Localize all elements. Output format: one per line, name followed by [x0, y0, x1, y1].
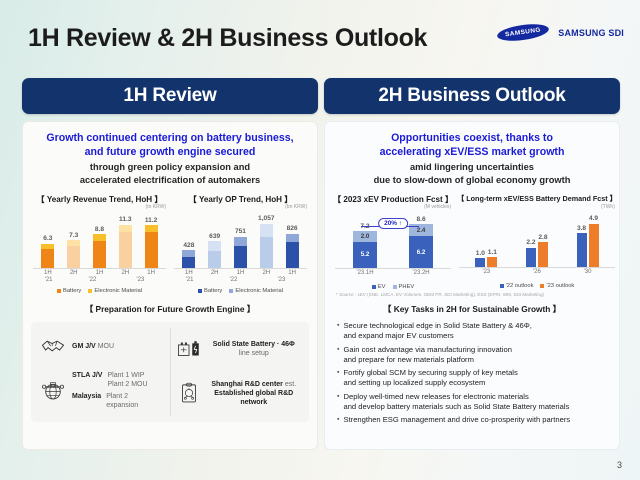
legend-xev: EVPHEV — [333, 284, 453, 290]
xticks-revenue: 1H2H1H2H1H — [31, 269, 168, 276]
key-task-item: ▪Secure technological edge in Solid Stat… — [337, 321, 607, 341]
legend-label: '23 outlook — [546, 283, 574, 289]
left-panel: 1H Review Growth continued centering on … — [22, 78, 318, 450]
bar — [93, 234, 106, 268]
bar — [41, 244, 54, 268]
key-task-text: Secure technological edge in Solid State… — [343, 321, 531, 341]
right-panel-header: 2H Business Outlook — [324, 78, 620, 114]
bar-segment-top — [182, 250, 195, 257]
bar-segment-bottom — [208, 251, 221, 268]
engine-rnd-bold2: Established global R&D network — [208, 389, 301, 407]
right-panel-title: 2H Business Outlook — [378, 85, 565, 107]
bar-group: 7.22.05.2 — [352, 224, 378, 268]
engine-row-stla: STLA J/V Plant 1 WIP Plant 2 MOU — [72, 371, 148, 389]
bar-value-label: 2.8 — [538, 235, 547, 242]
growth-callout: 20% ↑ — [378, 218, 408, 229]
right-panel: 2H Business Outlook Opportunities coexis… — [324, 78, 620, 450]
bar-column: 3.8 — [577, 226, 587, 267]
key-task-text: Fortify global SCM by securing supply of… — [343, 368, 517, 388]
year-tick-label: '21 — [45, 277, 53, 283]
legend-revenue: BatteryElectronic Material — [31, 288, 168, 294]
bar — [119, 225, 132, 268]
legend-swatch — [57, 289, 61, 293]
bar-value-label: 4.9 — [589, 216, 598, 223]
legend-swatch — [500, 284, 504, 288]
clipboard-rnd-icon — [176, 381, 202, 405]
engine-text-ssb: Solid State Battery · 46Φ line setup — [208, 340, 301, 358]
bar-value-label: 3.8 — [577, 226, 586, 233]
globe-network-icon — [40, 378, 66, 402]
bar — [67, 240, 80, 268]
bar — [286, 234, 299, 269]
bar — [526, 248, 536, 268]
legend-item: Battery — [198, 288, 222, 294]
engine-rnd-normal1: est. — [285, 381, 296, 388]
legend-item: Battery — [57, 288, 81, 294]
bar — [145, 225, 158, 268]
legend-label: Electronic Material — [94, 288, 142, 294]
right-charts-row: 【 2023 xEV Production Fcst 】 (M vehicles… — [333, 194, 611, 290]
bullet-icon: ▪ — [337, 321, 339, 341]
engine-ssb-normal: line setup — [208, 349, 301, 358]
bar-value-label: 6.3 — [43, 236, 52, 243]
legend-item: '23 outlook — [540, 283, 574, 289]
bar-column: 2.8 — [538, 235, 548, 267]
left-charts-row: 【 Yearly Revenue Trend, HoH 】 (tn KRW) 6… — [31, 194, 309, 294]
bar-group: 2.22.8 — [526, 235, 548, 267]
legend-label: Electronic Material — [235, 288, 283, 294]
bar-column: 2.2 — [526, 240, 536, 267]
year-tick-label: '22 — [230, 277, 238, 283]
bar — [260, 224, 273, 268]
right-sub-line1: amid lingering uncertainties — [333, 161, 611, 173]
bar-segment-bottom — [67, 246, 80, 269]
left-panel-header: 1H Review — [22, 78, 318, 114]
year-tick-label: '23 — [277, 277, 285, 283]
legend-swatch — [198, 289, 202, 293]
bar-segment-bottom — [234, 246, 247, 268]
legend-label: Battery — [63, 288, 81, 294]
year-tick-label: '22 — [89, 277, 97, 283]
engine-gm-bold: GM J/V — [72, 343, 96, 350]
page-title: 1H Review & 2H Business Outlook — [28, 24, 427, 53]
engine-item-gm-jv: GM J/V MOU — [35, 334, 170, 358]
key-task-item: ▪Fortify global SCM by securing supply o… — [337, 368, 607, 388]
chart-yearly-op: 【 Yearly OP Trend, HoH 】 (bn KRW) 428639… — [172, 194, 309, 294]
bar — [538, 242, 548, 267]
bar-segment-top — [119, 225, 132, 232]
plot-xev: 7.22.05.28.62.46.2 20% ↑ — [333, 206, 453, 268]
legend-swatch — [229, 289, 233, 293]
yearticks-revenue: '21'22'23 — [31, 276, 168, 287]
bar-segment-top — [208, 241, 221, 251]
bar-column: 4.9 — [589, 216, 599, 267]
bar-value-label: 11.2 — [145, 218, 157, 225]
bar-value-label: 826 — [287, 226, 298, 233]
engine-malaysia-details: Plant 2 expansion — [106, 392, 138, 410]
x-tick-label: '26 — [525, 269, 549, 275]
engine-malaysia-bold: Malaysia — [72, 392, 101, 410]
engine-gm-normal: MOU — [98, 343, 114, 350]
left-lead-line1: Growth continued centering on battery bu… — [31, 131, 309, 145]
bar-segment-top — [145, 225, 158, 232]
bar-segment-bottom — [145, 232, 158, 268]
key-task-item: ▪Gain cost advantage via manufacturing i… — [337, 345, 607, 365]
right-sub-line2: due to slow-down of global economy growt… — [333, 174, 611, 186]
legend-swatch — [393, 285, 397, 289]
chart-yearly-revenue: 【 Yearly Revenue Trend, HoH 】 (tn KRW) 6… — [31, 194, 168, 294]
bullet-icon: ▪ — [337, 392, 339, 412]
left-panel-body: Growth continued centering on battery bu… — [22, 121, 318, 450]
engine-item-stla-malaysia: STLA J/V Plant 1 WIP Plant 2 MOU Malaysi… — [35, 371, 170, 410]
chart-longterm-demand: 【 Long-term xEV/ESS Battery Demand Fcst … — [457, 194, 617, 290]
bar-segment-top — [260, 224, 273, 237]
engine-text-rnd: Shanghai R&D center est. Established glo… — [208, 380, 301, 407]
legend-op: BatteryElectronic Material — [172, 288, 309, 294]
bar-segment-top — [286, 234, 299, 242]
engine-text-gm: GM J/V MOU — [72, 342, 114, 351]
growth-engine-section-title: 【 Preparation for Future Growth Engine 】 — [31, 303, 309, 315]
bar-group: 7.3 — [66, 233, 81, 269]
key-task-text: Deploy well-timed new releases for elect… — [343, 392, 569, 412]
chart-xev-production: 【 2023 xEV Production Fcst 】 (M vehicles… — [333, 194, 453, 290]
handshake-icon — [40, 334, 66, 358]
engine-row-malaysia: Malaysia Plant 2 expansion — [72, 392, 148, 410]
bar — [487, 257, 497, 267]
engine-stla-detail2: Plant 2 MOU — [107, 380, 147, 389]
engine-malaysia-detail1: Plant 2 — [106, 392, 138, 401]
engine-rnd-line1: Shanghai R&D center est. — [208, 380, 301, 389]
engine-col-right: Solid State Battery · 46Φ line setup — [170, 328, 306, 416]
samsung-ellipse-icon: SAMSUNG — [496, 21, 550, 43]
legend-label: EV — [378, 284, 386, 290]
bar — [234, 237, 247, 268]
bar-segment-bottom — [182, 257, 195, 268]
bar-column: 1.1 — [487, 250, 497, 267]
legend-swatch — [372, 285, 376, 289]
x-tick-label: '23.2H — [408, 270, 434, 276]
bar-value-label: 1.0 — [476, 251, 485, 258]
right-sub-text: amid lingering uncertainties due to slow… — [333, 161, 611, 186]
legend-item: PHEV — [393, 284, 415, 290]
bar-group: 1,057 — [259, 216, 274, 268]
bar-segment-bottom — [286, 242, 299, 268]
legend-swatch — [540, 284, 544, 288]
bar-column: 1.0 — [475, 251, 485, 267]
bar-value-label: 7.3 — [69, 233, 78, 240]
bar-value-label: 751 — [235, 229, 246, 236]
page-number: 3 — [617, 460, 622, 470]
bar — [208, 241, 221, 268]
bar: 2.05.2 — [353, 231, 377, 268]
bar-segment: 6.2 — [409, 236, 433, 268]
battery-icon — [176, 337, 202, 361]
xticks-xev: '23.1H'23.2H — [333, 269, 453, 276]
right-lead-line2: accelerating xEV/ESS market growth — [333, 145, 611, 159]
right-lead-text: Opportunities coexist, thanks to acceler… — [333, 131, 611, 159]
bar-segment-bottom — [119, 232, 132, 268]
brand-name-text: SAMSUNG SDI — [558, 28, 624, 38]
key-tasks-section-title: 【 Key Tasks in 2H for Sustainable Growth… — [333, 303, 611, 315]
engine-stla-bold: STLA J/V — [72, 371, 102, 389]
bar-value-label: 639 — [209, 234, 220, 241]
plot-revenue: 6.37.38.811.311.2 — [31, 206, 168, 268]
bar-segment-bottom — [260, 237, 273, 268]
bar-group: 428 — [181, 243, 196, 268]
right-lead-line1: Opportunities coexist, thanks to — [333, 131, 611, 145]
year-tick-label: '21 — [186, 277, 194, 283]
bullet-icon: ▪ — [337, 345, 339, 365]
bar-value-label: 8.8 — [95, 227, 104, 234]
legend-item: Electronic Material — [229, 288, 283, 294]
yearticks-op: '21'22'23 — [172, 276, 309, 287]
right-panel-body: Opportunities coexist, thanks to acceler… — [324, 121, 620, 450]
xticks-demand: '23'26'30 — [457, 268, 617, 275]
key-task-item: ▪Strengthen ESG management and drive co-… — [337, 415, 607, 425]
engine-col-left: GM J/V MOU — [35, 328, 170, 416]
key-task-item: ▪Deploy well-timed new releases for elec… — [337, 392, 607, 412]
engine-text-stla: STLA J/V Plant 1 WIP Plant 2 MOU Malaysi… — [72, 371, 148, 410]
growth-engine-card: GM J/V MOU — [31, 322, 309, 422]
engine-ssb-bold: Solid State Battery · 46Φ — [208, 340, 301, 349]
bar-segment: 2.0 — [353, 231, 377, 241]
left-sub-line1: through green policy expansion and — [31, 161, 309, 173]
key-task-text: Gain cost advantage via manufacturing in… — [343, 345, 511, 365]
legend-item: '22 outlook — [500, 283, 534, 289]
bar-total-label: 8.6 — [416, 217, 425, 224]
plot-op: 4286397511,057826 — [172, 206, 309, 268]
left-sub-line2: accelerated electrification of automaker… — [31, 174, 309, 186]
year-tick-label: '23 — [136, 277, 144, 283]
bar-value-label: 1,057 — [258, 216, 275, 223]
x-tick-label: '23.1H — [352, 270, 378, 276]
legend-swatch — [88, 289, 92, 293]
bar-value-label: 11.3 — [119, 217, 131, 224]
legend-label: PHEV — [399, 284, 415, 290]
bar: 2.46.2 — [409, 224, 433, 268]
left-lead-text: Growth continued centering on battery bu… — [31, 131, 309, 159]
legend-label: Battery — [204, 288, 222, 294]
legend-demand: '22 outlook'23 outlook — [457, 283, 617, 289]
plot-demand: 1.01.12.22.83.84.9 — [457, 205, 617, 267]
legend-item: EV — [372, 284, 386, 290]
bar-group: 11.2 — [144, 218, 159, 269]
engine-item-shanghai-rnd: Shanghai R&D center est. Established glo… — [171, 380, 306, 407]
bar-group: 639 — [207, 234, 222, 268]
bar — [182, 250, 195, 268]
engine-rnd-bold1: Shanghai R&D center — [211, 381, 283, 388]
x-tick-label: '23 — [474, 269, 498, 275]
xticks-op: 1H2H1H2H1H — [172, 269, 309, 276]
bar — [589, 224, 599, 268]
bar-group: 1.01.1 — [475, 250, 497, 267]
bar-segment-top — [234, 237, 247, 247]
bullet-icon: ▪ — [337, 415, 339, 425]
source-note: * Source : xEV (SNE, LMCA, EV Volumes, O… — [333, 292, 611, 297]
samsung-wordmark: SAMSUNG — [505, 27, 542, 39]
engine-item-solid-state: Solid State Battery · 46Φ line setup — [171, 337, 306, 361]
bar-segment-bottom — [41, 249, 54, 268]
bar-value-label: 1.1 — [488, 250, 497, 257]
bar-value-label: 428 — [183, 243, 194, 250]
bar-group: 3.84.9 — [577, 216, 599, 267]
bar — [577, 233, 587, 267]
bar-group: 826 — [285, 226, 300, 268]
bullet-icon: ▪ — [337, 368, 339, 388]
chart-title-demand: 【 Long-term xEV/ESS Battery Demand Fcst … — [457, 194, 617, 204]
key-tasks-list: ▪Secure technological edge in Solid Stat… — [333, 321, 611, 425]
bar-group: 8.62.46.2 — [408, 217, 434, 269]
legend-item: Electronic Material — [88, 288, 142, 294]
bar-group: 11.3 — [118, 217, 133, 268]
engine-stla-detail1: Plant 1 WIP — [107, 371, 147, 380]
brand-logo: SAMSUNG SAMSUNG SDI — [497, 25, 624, 40]
bar — [475, 258, 485, 267]
engine-malaysia-detail2: expansion — [106, 401, 138, 410]
x-tick-label: '30 — [576, 269, 600, 275]
bar-value-label: 2.2 — [526, 240, 535, 247]
key-task-text: Strengthen ESG management and drive co-p… — [343, 415, 570, 425]
page-header: 1H Review & 2H Business Outlook SAMSUNG … — [0, 0, 640, 62]
bar-group: 8.8 — [92, 227, 107, 268]
left-sub-text: through green policy expansion and accel… — [31, 161, 309, 186]
bar-segment: 5.2 — [353, 242, 377, 269]
left-lead-line2: and future growth engine secured — [31, 145, 309, 159]
bar-segment-bottom — [93, 241, 106, 269]
engine-stla-details: Plant 1 WIP Plant 2 MOU — [107, 371, 147, 389]
bar-group: 6.3 — [40, 236, 55, 268]
left-panel-title: 1H Review — [123, 85, 216, 107]
legend-label: '22 outlook — [506, 283, 534, 289]
bar-group: 751 — [233, 229, 248, 268]
